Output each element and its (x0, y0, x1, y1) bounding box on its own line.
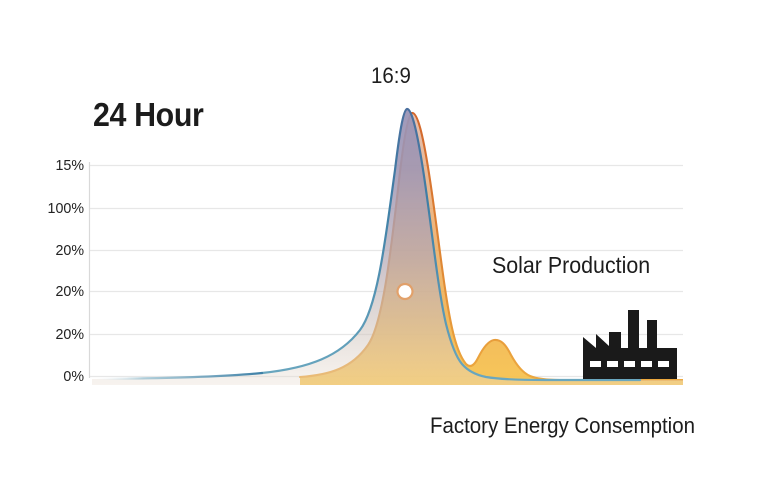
y-tick-label-5: 0% (25, 369, 84, 384)
solar-production-label: Solar Production (492, 252, 650, 279)
y-tick-label-1: 100% (25, 201, 84, 216)
chart-canvas: 15% 100% 20% 20% 20% 0% 24 Hour 16:9 Sol… (0, 0, 770, 500)
chart-title: 24 Hour (93, 98, 203, 131)
series-area-factory-energy (92, 109, 683, 386)
y-tick-label-3: 20% (25, 284, 84, 299)
factory-energy-label: Factory Energy Consemption (430, 413, 695, 439)
y-tick-label-0: 15% (25, 158, 84, 173)
peak-annotation-label: 16:9 (371, 63, 411, 89)
y-tick-label-2: 20% (25, 243, 84, 258)
data-point-marker-icon[interactable] (396, 283, 413, 300)
y-tick-label-4: 20% (25, 327, 84, 342)
factory-icon (583, 310, 677, 379)
